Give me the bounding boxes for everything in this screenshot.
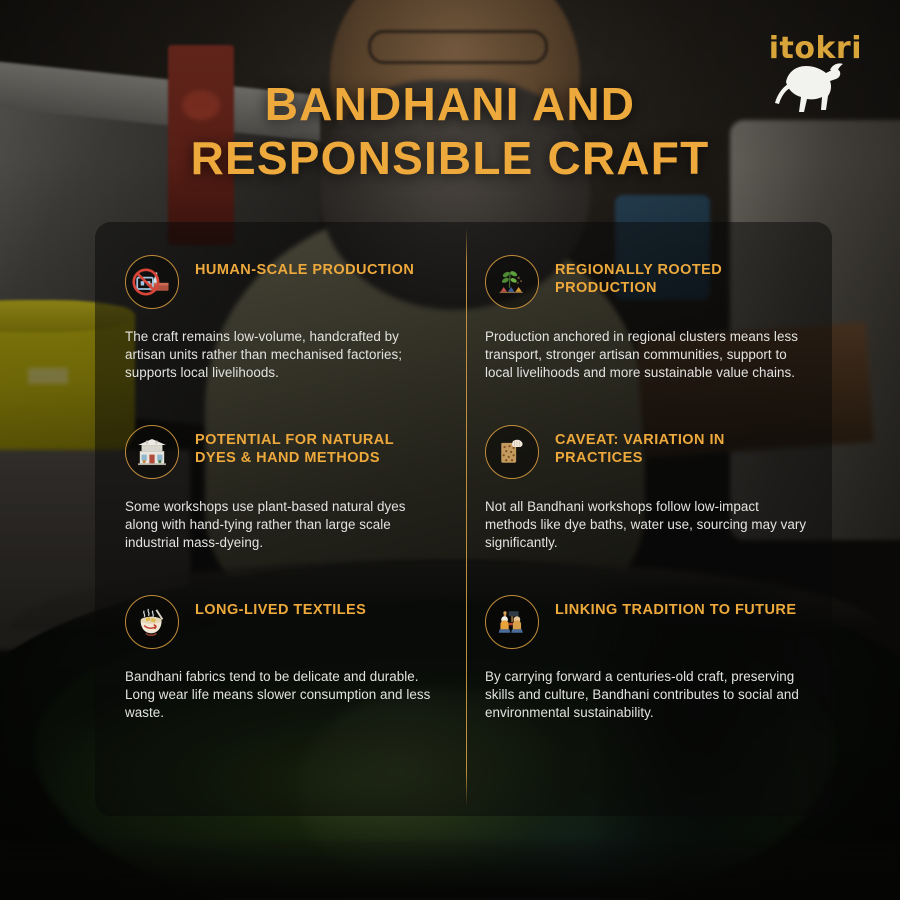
workshop-building-icon <box>125 425 179 479</box>
feature-card-human-scale-production[interactable]: HUMAN-SCALE PRODUCTION The craft remains… <box>95 222 466 392</box>
card-header: POTENTIAL FOR NATURAL DYES & HAND METHOD… <box>125 425 436 479</box>
feature-card-regionally-rooted-production[interactable]: REGIONALLY ROOTED PRODUCTION Production … <box>466 222 832 392</box>
brand-logo[interactable]: itokri <box>769 34 862 64</box>
card-header: HUMAN-SCALE PRODUCTION <box>125 255 436 309</box>
feature-card-linking-tradition-to-future[interactable]: LINKING TRADITION TO FUTURE By carrying … <box>466 562 832 816</box>
card-header: LONG-LIVED TEXTILES <box>125 595 436 649</box>
card-title: POTENTIAL FOR NATURAL DYES & HAND METHOD… <box>195 425 436 468</box>
card-title: LONG-LIVED TEXTILES <box>195 595 366 619</box>
card-title: REGIONALLY ROOTED PRODUCTION <box>555 255 810 298</box>
feature-card-caveat-variation-in-practices[interactable]: CAVEAT: VARIATION IN PRACTICES Not all B… <box>466 392 832 562</box>
card-body: The craft remains low-volume, handcrafte… <box>125 328 436 381</box>
card-title: CAVEAT: VARIATION IN PRACTICES <box>555 425 810 468</box>
card-header: LINKING TRADITION TO FUTURE <box>485 595 810 649</box>
card-body: Not all Bandhani workshops follow low-im… <box>485 498 810 551</box>
feature-card-long-lived-textiles[interactable]: LONG-LIVED TEXTILES Bandhani fabrics ten… <box>95 562 466 816</box>
title-line-2: RESPONSIBLE CRAFT <box>191 132 710 186</box>
card-header: CAVEAT: VARIATION IN PRACTICES <box>485 425 810 479</box>
two-artisans-icon <box>485 595 539 649</box>
plant-dye-icon <box>485 255 539 309</box>
card-body: Bandhani fabrics tend to be delicate and… <box>125 668 436 721</box>
card-title: LINKING TRADITION TO FUTURE <box>555 595 796 619</box>
card-body: By carrying forward a centuries-old craf… <box>485 668 810 721</box>
no-factory-icon <box>125 255 179 309</box>
hand-holding-fabric-icon <box>485 425 539 479</box>
dye-pot-icon <box>125 595 179 649</box>
card-body: Some workshops use plant-based natural d… <box>125 498 436 551</box>
feature-grid: HUMAN-SCALE PRODUCTION The craft remains… <box>95 222 832 816</box>
feature-card-natural-dyes-hand-methods[interactable]: POTENTIAL FOR NATURAL DYES & HAND METHOD… <box>95 392 466 562</box>
title-line-1: BANDHANI AND <box>191 78 710 132</box>
page-title: BANDHANI AND RESPONSIBLE CRAFT <box>0 78 900 186</box>
card-header: REGIONALLY ROOTED PRODUCTION <box>485 255 810 309</box>
card-title: HUMAN-SCALE PRODUCTION <box>195 255 414 279</box>
card-body: Production anchored in regional clusters… <box>485 328 810 381</box>
